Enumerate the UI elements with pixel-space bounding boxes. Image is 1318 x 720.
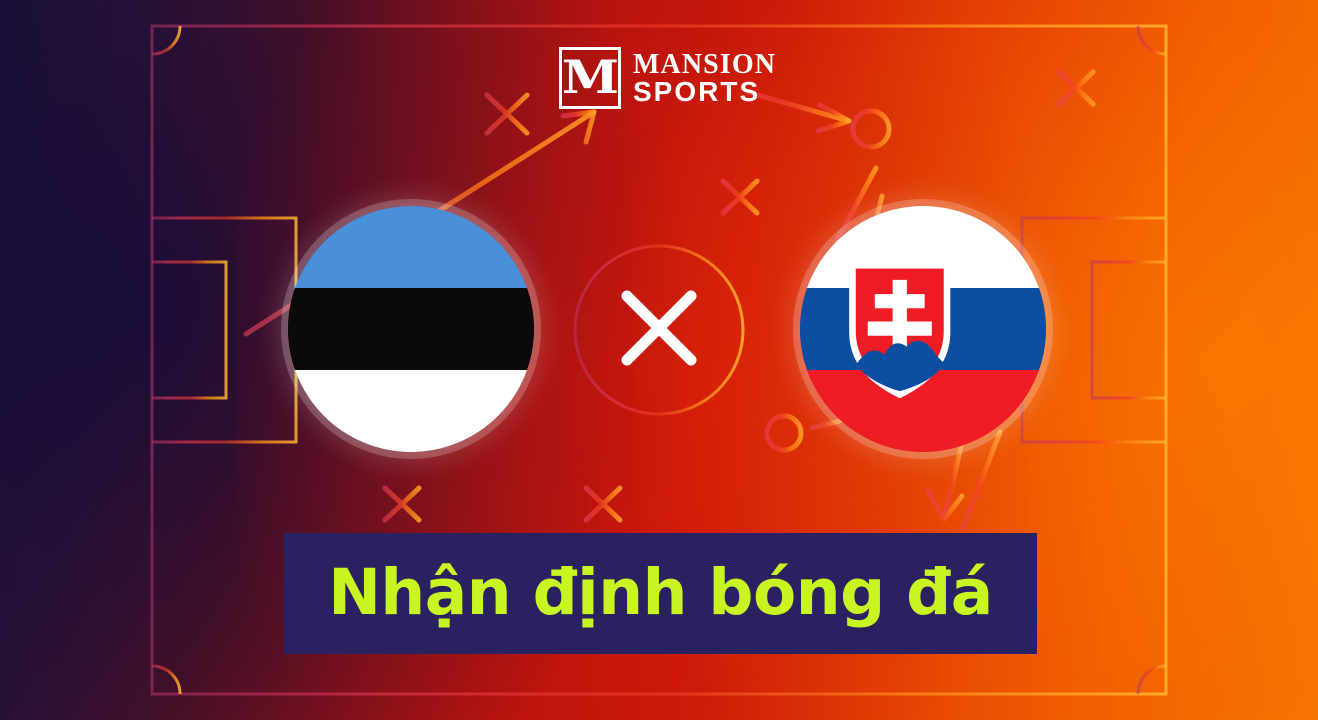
mansion-sports-logo: M MANSION SPORTS	[559, 47, 776, 109]
tactic-x-mark	[723, 181, 757, 213]
tactic-arrow	[812, 420, 843, 428]
logo-wordmark: MANSION SPORTS	[633, 51, 776, 106]
logo-mark-letter: M	[562, 54, 618, 100]
slovakia-flag-icon	[800, 206, 1046, 452]
headline-text: Nhận định bóng đá	[328, 561, 993, 624]
tactic-x-mark	[586, 488, 620, 520]
tactic-o-mark	[853, 111, 889, 147]
versus-x-icon	[609, 278, 709, 378]
mansion-blackletter-m-icon: M	[559, 47, 621, 109]
logo-line-mansion: MANSION	[633, 51, 776, 78]
tactic-o-mark	[767, 416, 801, 450]
tactic-x-mark	[1059, 72, 1093, 104]
headline-banner: Nhận định bóng đá	[284, 533, 1037, 654]
tactic-x-mark	[385, 488, 419, 520]
away-team-flag-slovakia	[800, 206, 1046, 452]
estonia-flag-icon	[288, 206, 534, 452]
tactic-x-mark	[487, 95, 527, 133]
logo-line-sports: SPORTS	[633, 78, 776, 105]
tactic-arrow	[963, 432, 1000, 528]
match-preview-graphic: M MANSION SPORTS	[0, 0, 1318, 720]
home-team-flag-estonia	[288, 206, 534, 452]
